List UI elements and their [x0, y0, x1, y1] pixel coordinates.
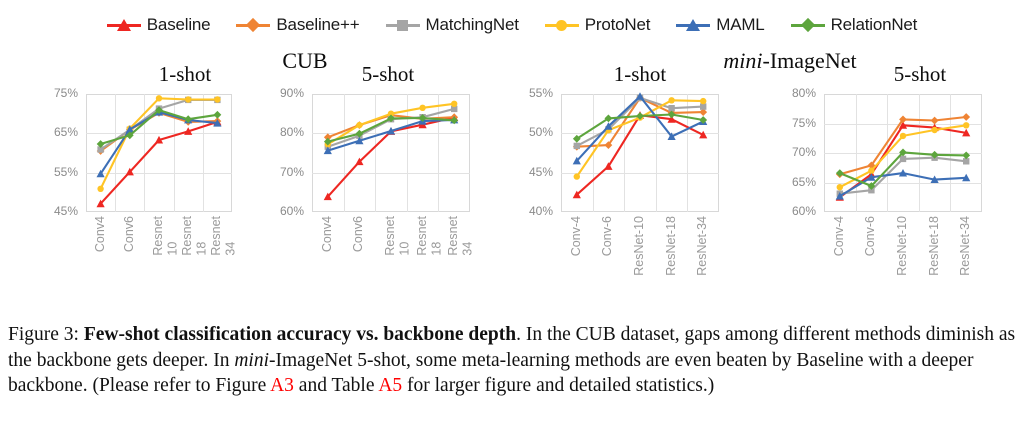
data-point-marker: [837, 184, 843, 190]
figure-3: BaselineBaseline++MatchingNetProtoNetMAM…: [0, 0, 1024, 437]
data-point-marker: [963, 122, 969, 128]
caption-ref-a3: A3: [270, 375, 294, 396]
data-point-marker: [900, 133, 906, 139]
caption-ref-a5: A5: [378, 375, 402, 396]
caption-text-3: and Table: [294, 375, 378, 396]
caption-italic-mini: mini: [234, 350, 269, 371]
data-point-marker: [931, 127, 937, 133]
caption-figure-label: Figure 3:: [8, 324, 84, 345]
data-point-marker: [900, 156, 906, 162]
data-point-marker: [836, 169, 844, 177]
data-point-marker: [931, 117, 939, 125]
caption-text-4: for larger figure and detailed statistic…: [402, 375, 714, 396]
caption-bold-title: Few-shot classification accuracy vs. bac…: [84, 324, 516, 345]
data-point-marker: [962, 113, 970, 121]
data-point-marker: [868, 168, 874, 174]
figure-caption: Figure 3: Few-shot classification accura…: [8, 322, 1016, 399]
